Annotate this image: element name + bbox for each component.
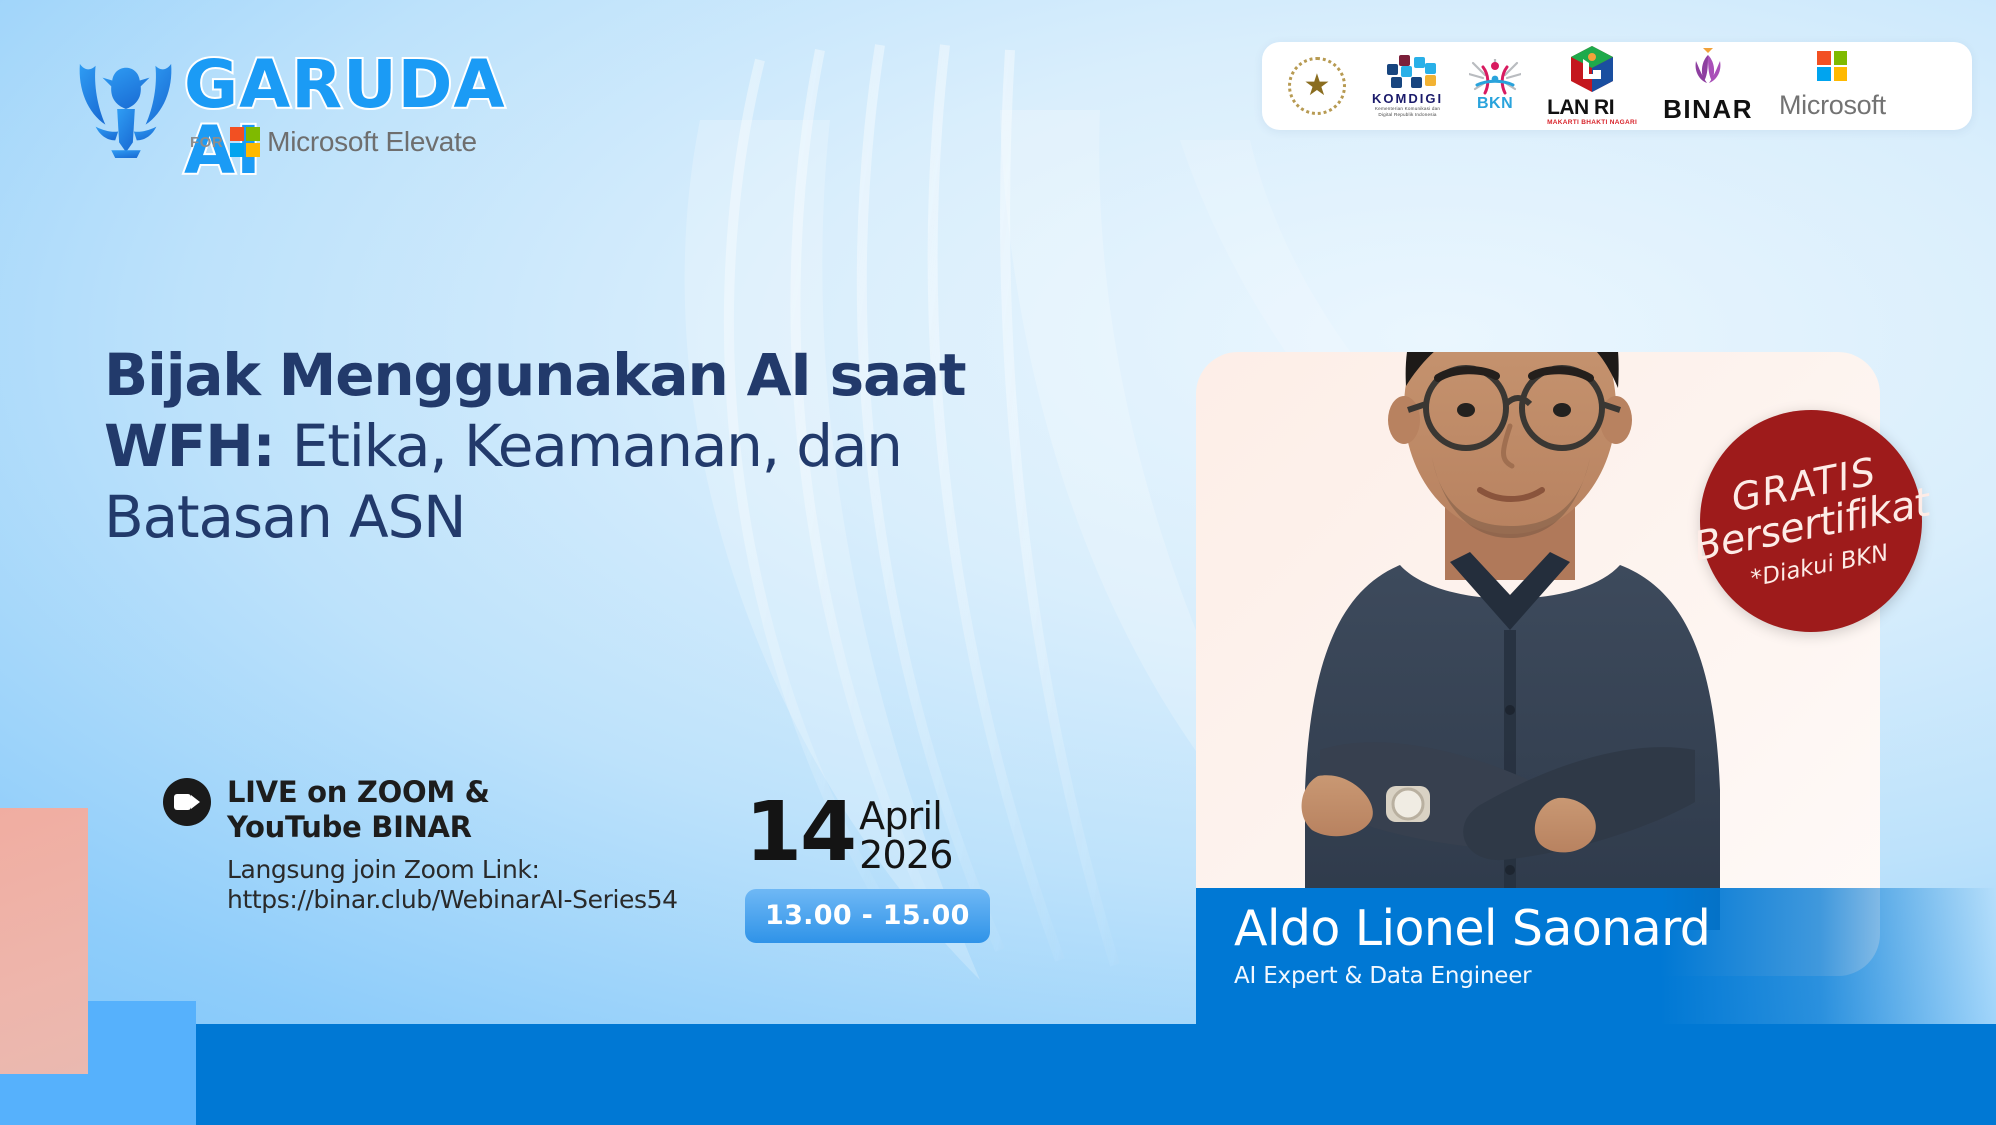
speaker-name: Aldo Lionel Saonard [1234,902,1996,957]
speaker-role: AI Expert & Data Engineer [1234,963,1996,989]
brand-lockup: GARUDA AI FOR Microsoft Elevate [72,52,592,168]
headline-line3: Batasan ASN [104,483,465,551]
brand-microsoft-text: Microsoft Elevate [267,126,477,158]
bkn-figure-icon [1469,59,1521,95]
logo-bkn: BKN [1469,59,1521,113]
brand-title: GARUDA AI [184,52,592,184]
logo-binar: BINAR [1663,47,1753,125]
live-title-line1: LIVE on ZOOM & [227,775,490,810]
komdigi-tagline: Kementerian Komunikasi dan Digital Repub… [1373,106,1443,117]
lanri-text: LAN RI MAKARTI BHAKTI NAGARI [1547,97,1637,127]
page-title: Bijak Menggunakan AI saat WFH: Etika, Ke… [104,340,1144,552]
logo-garuda-emblem: ★ [1288,57,1346,115]
binar-lotus-icon [1690,47,1726,85]
event-day: 14 [745,795,855,870]
lanri-name: LAN RI [1547,97,1637,118]
microsoft-squares-icon [1817,51,1847,81]
headline-line2-bold: WFH: [104,412,275,480]
event-year: 2026 [859,836,953,875]
lanri-hexagon-icon [1571,46,1613,92]
headline-line1: Bijak Menggunakan AI saat [104,341,965,409]
komdigi-dots-icon [1381,55,1435,89]
lanri-tagline: MAKARTI BHAKTI NAGARI [1547,120,1637,127]
headline-line2-regular: Etika, Keamanan, dan [275,412,902,480]
partner-logo-bar: ★ KOMDIGI Kementerian Komunikasi dan Dig… [1262,42,1972,130]
event-date-block: 14 April 2026 13.00 - 15.00 [745,795,990,943]
logo-komdigi: KOMDIGI Kementerian Komunikasi dan Digit… [1372,55,1443,117]
live-title: LIVE on ZOOM & YouTube BINAR [227,775,490,846]
logo-lanri: LAN RI MAKARTI BHAKTI NAGARI [1547,46,1637,127]
event-month: April [859,797,953,836]
binar-name: BINAR [1663,94,1753,125]
brand-for-label: FOR [190,134,223,151]
garuda-bird-icon [72,56,180,160]
webinar-banner: GARUDA AI FOR Microsoft Elevate ★ KOMDIG… [0,0,1996,1125]
event-time-badge: 13.00 - 15.00 [745,889,990,943]
microsoft-squares-icon [230,127,260,157]
microsoft-name: Microsoft [1779,90,1886,121]
zoom-link-label: Langsung join Zoom Link: [227,855,678,885]
live-title-line2: YouTube BINAR [227,810,490,845]
national-emblem-icon: ★ [1288,57,1346,115]
decor-block-dark-blue [196,1024,1996,1125]
brand-subline: FOR Microsoft Elevate [190,126,477,158]
speaker-name-banner: Aldo Lionel Saonard AI Expert & Data Eng… [1196,888,1996,1024]
logo-microsoft: Microsoft [1779,51,1886,121]
komdigi-name: KOMDIGI [1372,91,1443,106]
bkn-name: BKN [1477,95,1513,113]
zoom-camera-icon [163,778,211,826]
decor-block-peach [0,808,88,1074]
live-note: Langsung join Zoom Link: https://binar.c… [227,855,678,915]
live-info-block: LIVE on ZOOM & YouTube BINAR Langsung jo… [163,775,678,915]
zoom-link-url[interactable]: https://binar.club/WebinarAI-Series54 [227,885,678,915]
